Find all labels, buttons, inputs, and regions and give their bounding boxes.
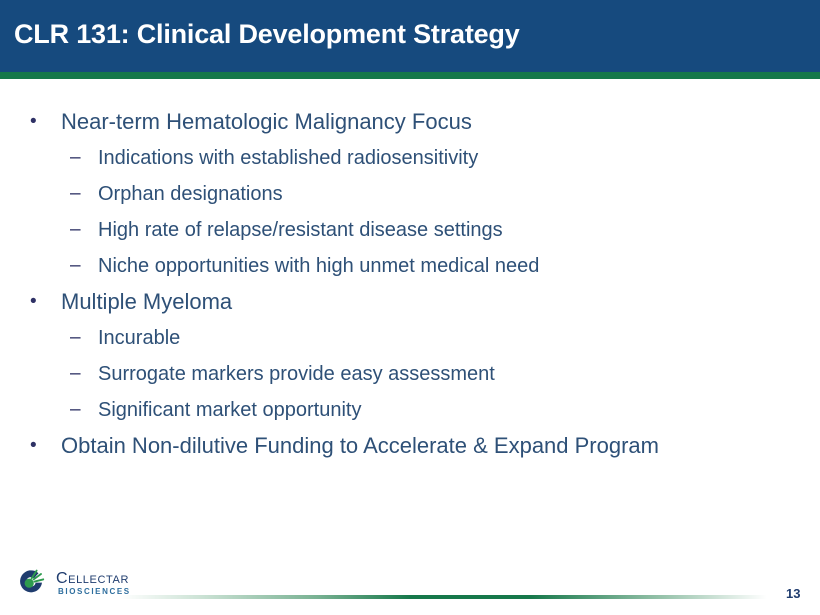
sub-bullet-item: –Surrogate markers provide easy assessme…	[0, 356, 820, 392]
logo-tagline: BIOSCIENCES	[58, 587, 131, 596]
slide: CLR 131: Clinical Development Strategy •…	[0, 0, 820, 615]
bullet-item: •Multiple Myeloma	[0, 284, 820, 320]
sub-bullet-item: –Orphan designations	[0, 176, 820, 212]
bullet-dot-icon: •	[30, 284, 37, 320]
sub-bullet-item: –Significant market opportunity	[0, 392, 820, 428]
bullet-text: Orphan designations	[98, 176, 283, 212]
bullet-text: Obtain Non-dilutive Funding to Accelerat…	[61, 428, 659, 464]
footer-divider	[120, 595, 780, 599]
bullet-list: •Near-term Hematologic Malignancy Focus–…	[0, 104, 820, 464]
bullet-dash-icon: –	[70, 140, 81, 176]
bullet-dash-icon: –	[70, 248, 81, 284]
sub-bullet-item: –Indications with established radiosensi…	[0, 140, 820, 176]
bullet-text: Multiple Myeloma	[61, 284, 232, 320]
bullet-dot-icon: •	[30, 104, 37, 140]
bullet-item: •Near-term Hematologic Malignancy Focus	[0, 104, 820, 140]
logo-wordmark: Cellectar	[56, 570, 129, 588]
sub-bullet-item: –Niche opportunities with high unmet med…	[0, 248, 820, 284]
bullet-dash-icon: –	[70, 212, 81, 248]
bullet-dash-icon: –	[70, 176, 81, 212]
bullet-text: Indications with established radiosensit…	[98, 140, 478, 176]
bullet-text: Significant market opportunity	[98, 392, 361, 428]
cellectar-circle-icon	[14, 566, 48, 600]
bullet-dash-icon: –	[70, 320, 81, 356]
sub-bullet-item: –Incurable	[0, 320, 820, 356]
sub-bullet-item: –High rate of relapse/resistant disease …	[0, 212, 820, 248]
bullet-item: •Obtain Non-dilutive Funding to Accelera…	[0, 428, 820, 464]
bullet-text: Incurable	[98, 320, 180, 356]
page-title: CLR 131: Clinical Development Strategy	[14, 19, 520, 50]
bullet-dash-icon: –	[70, 356, 81, 392]
bullet-dot-icon: •	[30, 428, 37, 464]
page-number: 13	[786, 586, 800, 601]
bullet-text: Surrogate markers provide easy assessmen…	[98, 356, 495, 392]
bullet-text: Near-term Hematologic Malignancy Focus	[61, 104, 472, 140]
bullet-dash-icon: –	[70, 392, 81, 428]
bullet-text: High rate of relapse/resistant disease s…	[98, 212, 503, 248]
header-accent-bar	[0, 72, 820, 79]
company-logo: Cellectar BIOSCIENCES	[14, 564, 154, 604]
bullet-text: Niche opportunities with high unmet medi…	[98, 248, 539, 284]
